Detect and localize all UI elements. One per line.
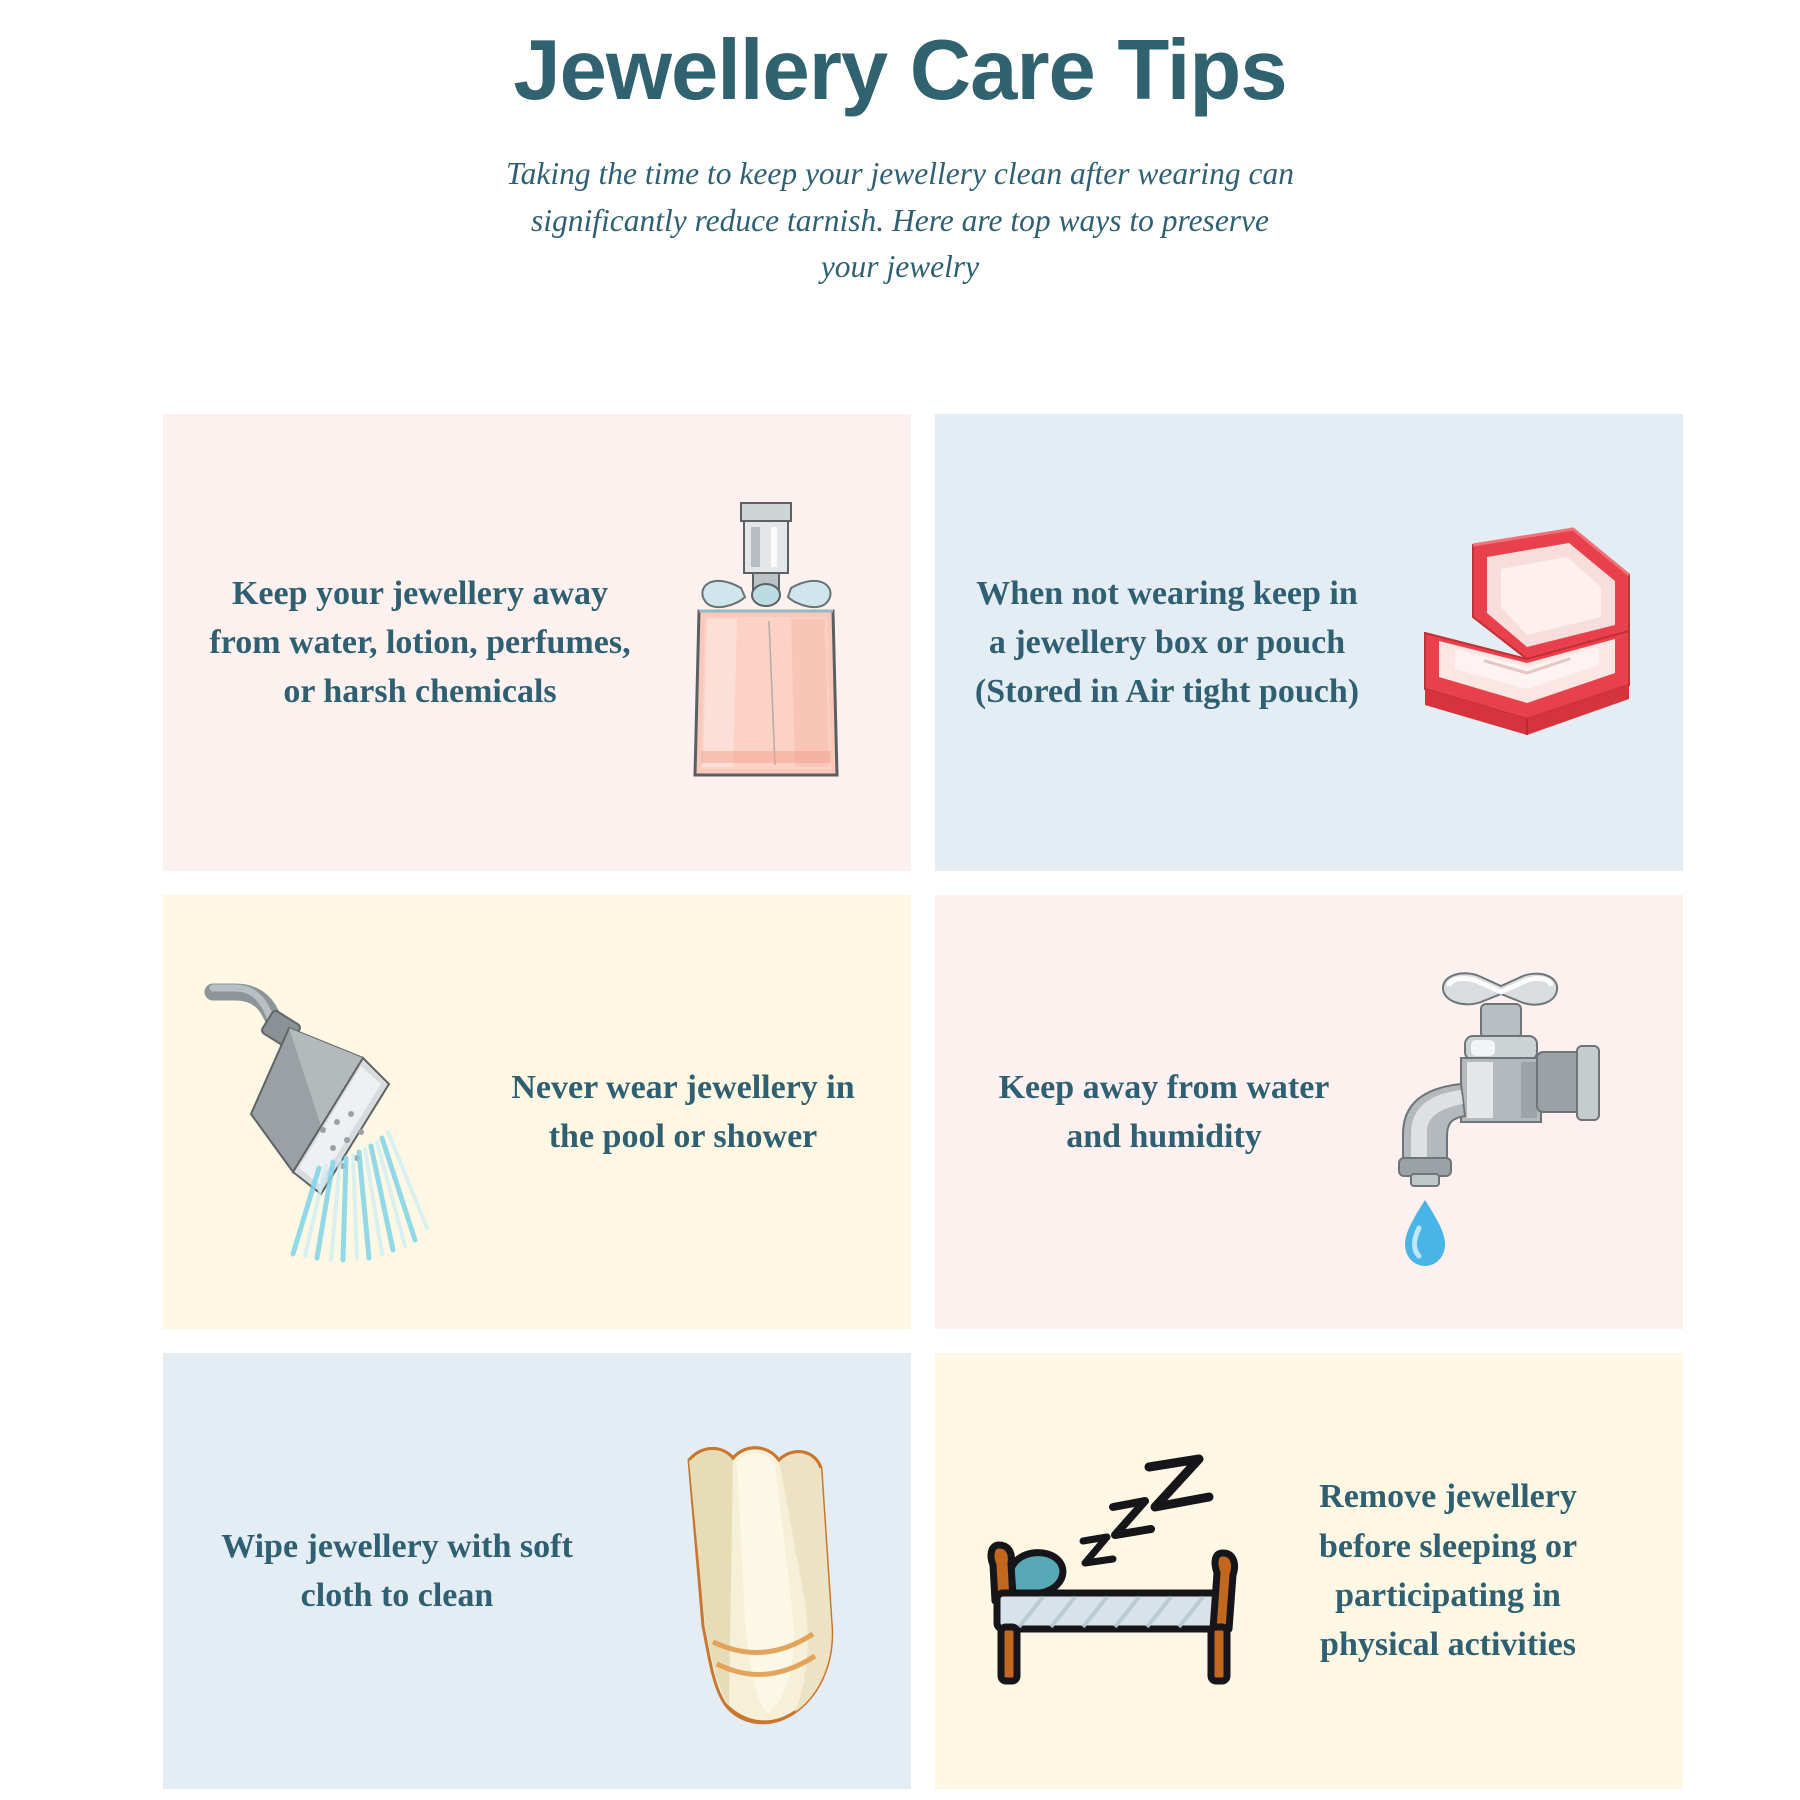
tip-card-4-text: Keep away from water and humidity — [979, 1063, 1349, 1162]
shower-head-icon — [193, 962, 473, 1262]
tip-card-2-text: When not wearing keep in a jewellery box… — [967, 569, 1367, 717]
sleeping-bed-icon — [973, 1441, 1263, 1701]
tip-card-3-text: Never wear jewellery in the pool or show… — [493, 1063, 873, 1162]
tip-card-6-text: Remove jewellery before sleeping or part… — [1283, 1472, 1613, 1669]
infographic-page: Jewellery Care Tips Taking the time to k… — [0, 0, 1800, 1800]
tip-card-5-text: Wipe jewellery with soft cloth to clean — [207, 1522, 587, 1621]
tip-card-1[interactable]: Keep your jewellery away from water, lot… — [163, 414, 911, 871]
tips-grid: Keep your jewellery away from water, lot… — [163, 414, 1638, 1789]
polishing-cloth-icon — [617, 1406, 867, 1736]
page-title: Jewellery Care Tips — [0, 26, 1800, 115]
header: Jewellery Care Tips Taking the time to k… — [0, 0, 1800, 291]
tip-card-3[interactable]: Never wear jewellery in the pool or show… — [163, 895, 911, 1329]
faucet-icon — [1369, 952, 1629, 1272]
tip-card-5[interactable]: Wipe jewellery with soft cloth to clean — [163, 1353, 911, 1789]
perfume-bottle-icon — [641, 493, 891, 793]
tip-card-4[interactable]: Keep away from water and humidity — [935, 895, 1683, 1329]
tip-card-2[interactable]: When not wearing keep in a jewellery box… — [935, 414, 1683, 871]
tip-card-6[interactable]: Remove jewellery before sleeping or part… — [935, 1353, 1683, 1789]
page-subtitle: Taking the time to keep your jewellery c… — [505, 151, 1295, 291]
ring-box-icon — [1377, 513, 1667, 773]
tip-card-1-text: Keep your jewellery away from water, lot… — [205, 569, 635, 717]
